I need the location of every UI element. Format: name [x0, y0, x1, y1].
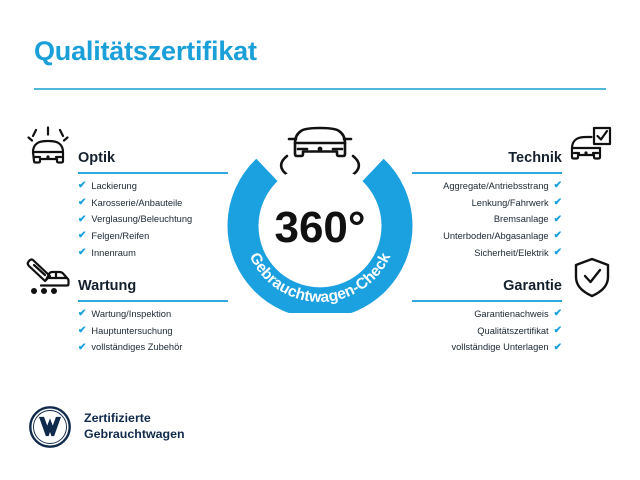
section-title: Technik	[508, 150, 562, 166]
check-icon: ✔	[554, 326, 562, 336]
list-item: ✔Lackierung	[78, 181, 228, 191]
section-title: Garantie	[503, 278, 562, 294]
list-item-label: Qualitätszertifikat	[477, 326, 548, 336]
check-icon: ✔	[554, 198, 562, 208]
section-technik: Technik Aggregate/Antriebsstrang✔ Lenkun…	[412, 140, 562, 265]
certificate-page: Qualitätszertifikat	[0, 0, 640, 480]
title-divider	[34, 88, 606, 90]
list-item-label: vollständiges Zubehör	[91, 342, 182, 352]
list-item-label: Garantienachweis	[474, 309, 548, 319]
check-icon: ✔	[554, 181, 562, 191]
check-icon: ✔	[78, 198, 86, 208]
check-icon: ✔	[78, 326, 86, 336]
list-item-label: Unterboden/Abgasanlage	[443, 231, 548, 241]
list-item: ✔vollständiges Zubehör	[78, 342, 228, 352]
section-divider	[78, 300, 228, 302]
list-item: ✔Wartung/Inspektion	[78, 309, 228, 319]
check-icon: ✔	[78, 248, 86, 258]
section-header: Optik	[78, 140, 228, 174]
wrench-car-icon	[26, 256, 72, 301]
section-divider	[412, 172, 562, 174]
check-icon: ✔	[554, 248, 562, 258]
brand-text: Zertifizierte Gebrauchtwagen	[84, 411, 185, 443]
badge-360-gebrauchtwagen-check: 360° Gebrauchtwagen-Check	[225, 108, 415, 313]
list-item-label: Lackierung	[91, 181, 136, 191]
list-item-label: Bremsanlage	[494, 214, 549, 224]
check-icon: ✔	[78, 231, 86, 241]
list-item: vollständige Unterlagen✔	[412, 342, 562, 352]
section-header: Technik	[412, 140, 562, 174]
check-icon: ✔	[554, 215, 562, 225]
checklist: ✔Lackierung ✔Karosserie/Anbauteile ✔Verg…	[78, 181, 228, 258]
list-item: Unterboden/Abgasanlage✔	[412, 231, 562, 241]
brand-line-2: Gebrauchtwagen	[84, 427, 185, 443]
list-item-label: Felgen/Reifen	[91, 231, 149, 241]
list-item: ✔Karosserie/Anbauteile	[78, 198, 228, 208]
list-item: ✔Verglasung/Beleuchtung	[78, 214, 228, 224]
list-item-label: Wartung/Inspektion	[91, 309, 171, 319]
footer-brand: Zertifizierte Gebrauchtwagen	[28, 405, 185, 449]
car-checkbox-icon	[568, 126, 614, 173]
check-icon: ✔	[78, 181, 86, 191]
list-item: ✔Felgen/Reifen	[78, 231, 228, 241]
list-item-label: vollständige Unterlagen	[451, 342, 548, 352]
section-header: Garantie	[412, 268, 562, 302]
list-item-label: Aggregate/Antriebsstrang	[443, 181, 548, 191]
brand-line-1: Zertifizierte	[84, 411, 185, 427]
check-icon: ✔	[78, 343, 86, 353]
section-title: Optik	[78, 150, 115, 166]
car-shine-icon	[26, 126, 72, 175]
checklist: Garantienachweis✔ Qualitätszertifikat✔ v…	[412, 309, 562, 353]
section-optik: Optik ✔Lackierung ✔Karosserie/Anbauteile…	[78, 140, 228, 265]
section-title: Wartung	[78, 278, 136, 294]
vw-logo	[28, 405, 72, 449]
check-icon: ✔	[78, 309, 86, 319]
page-title: Qualitätszertifikat	[34, 36, 257, 67]
section-header: Wartung	[78, 268, 228, 302]
section-divider	[412, 300, 562, 302]
section-divider	[78, 172, 228, 174]
check-icon: ✔	[554, 231, 562, 241]
list-item-label: Karosserie/Anbauteile	[91, 198, 182, 208]
list-item: Bremsanlage✔	[412, 214, 562, 224]
list-item-label: Verglasung/Beleuchtung	[91, 214, 192, 224]
shield-check-icon	[572, 256, 612, 305]
list-item-label: Lenkung/Fahrwerk	[472, 198, 549, 208]
badge-center-label: 360°	[274, 203, 365, 252]
list-item: Lenkung/Fahrwerk✔	[412, 198, 562, 208]
list-item: ✔Innenraum	[78, 248, 228, 258]
check-icon: ✔	[554, 309, 562, 319]
check-icon: ✔	[78, 215, 86, 225]
list-item: Qualitätszertifikat✔	[412, 326, 562, 336]
list-item-label: Innenraum	[91, 248, 135, 258]
list-item-label: Hauptuntersuchung	[91, 326, 172, 336]
check-icon: ✔	[554, 343, 562, 353]
section-wartung: Wartung ✔Wartung/Inspektion ✔Hauptunters…	[78, 268, 228, 359]
section-garantie: Garantie Garantienachweis✔ Qualitätszert…	[412, 268, 562, 359]
list-item: Garantienachweis✔	[412, 309, 562, 319]
list-item: Sicherheit/Elektrik✔	[412, 248, 562, 258]
list-item: ✔Hauptuntersuchung	[78, 326, 228, 336]
checklist: Aggregate/Antriebsstrang✔ Lenkung/Fahrwe…	[412, 181, 562, 258]
list-item: Aggregate/Antriebsstrang✔	[412, 181, 562, 191]
list-item-label: Sicherheit/Elektrik	[474, 248, 548, 258]
checklist: ✔Wartung/Inspektion ✔Hauptuntersuchung ✔…	[78, 309, 228, 353]
